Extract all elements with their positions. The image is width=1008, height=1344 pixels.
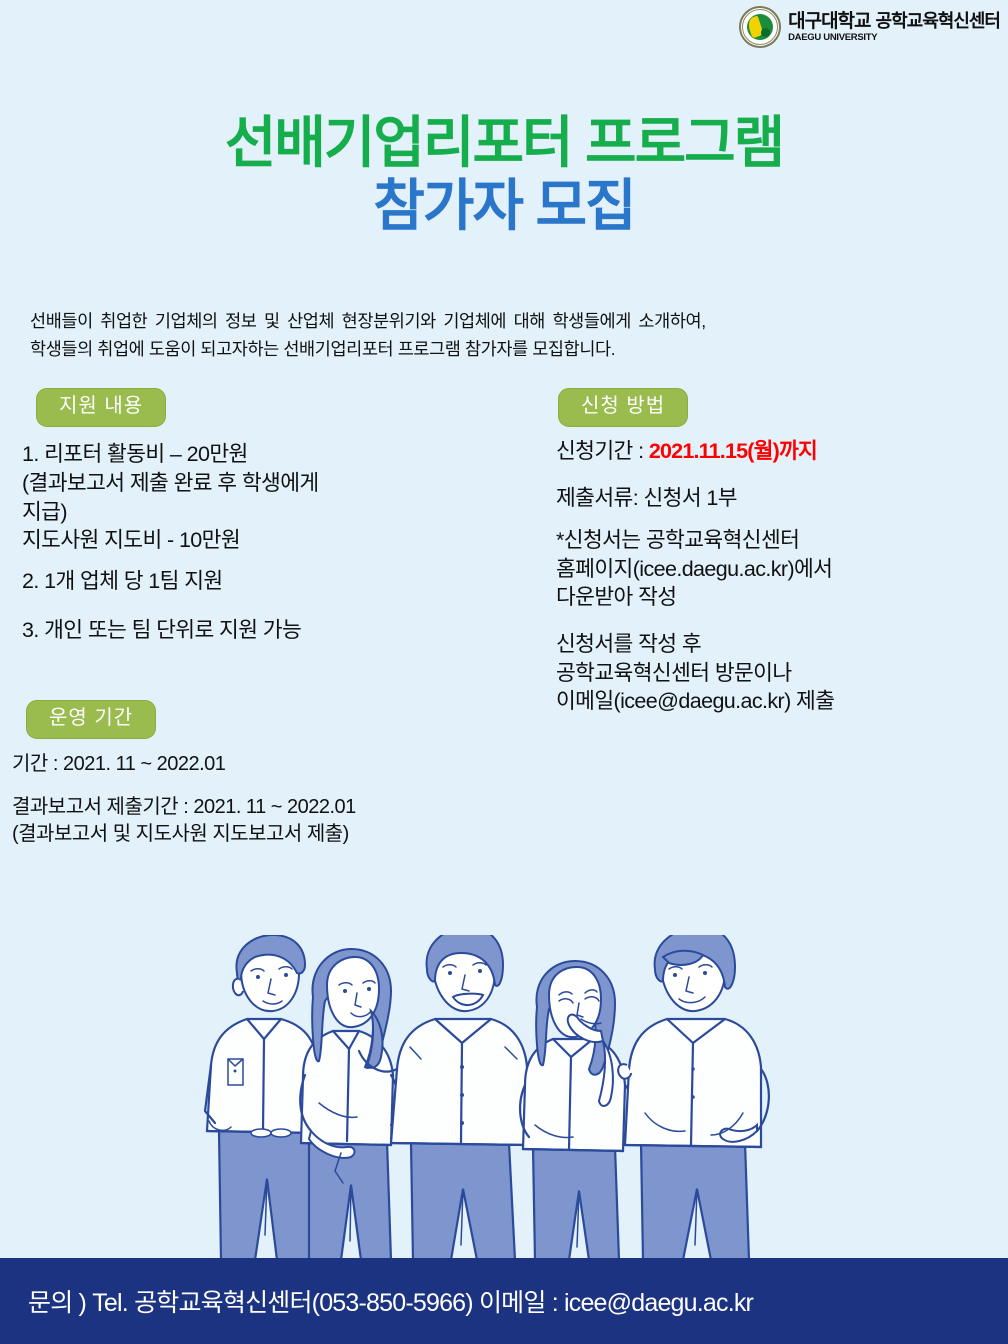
- apply-submit-line-1: 신청서를 작성 후: [556, 630, 997, 659]
- period-line-1: 기간 : 2021. 11 ~ 2022.01: [12, 751, 612, 778]
- five-students-group-illustration: .ink { fill: none; stroke: #2b4a9b; stro…: [185, 935, 805, 1260]
- support-line-4: 지도사원 지도비 - 10만원: [22, 526, 522, 555]
- support-line-1: 1. 리포터 활동비 – 20만원: [22, 440, 522, 469]
- title-line-2: 참가자 모집: [0, 175, 1008, 238]
- apply-deadline-label: 신청기간 :: [556, 439, 649, 463]
- university-logo: 대구대학교 공학교육혁신센터 DAEGU UNIVERSITY: [739, 4, 1000, 50]
- period-section: 운영 기간 기간 : 2021. 11 ~ 2022.01 결과보고서 제출기간…: [12, 700, 612, 848]
- apply-submit-line-3: 이메일(icee@daegu.ac.kr) 제출: [556, 687, 997, 716]
- logo-center-ko: 공학교육혁신센터: [876, 12, 1000, 30]
- support-line-2: (결과보고서 제출 완료 후 학생에게: [22, 469, 522, 498]
- support-list: 1. 리포터 활동비 – 20만원 (결과보고서 제출 완료 후 학생에게 지급…: [22, 440, 522, 645]
- apply-documents: 제출서류: 신청서 1부: [556, 484, 997, 513]
- period-badge-wrap: 운영 기간: [26, 700, 612, 739]
- apply-note-line-1: *신청서는 공학교육혁신센터: [556, 526, 997, 555]
- intro-line-2: 학생들의 취업에 도움이 되고자하는 선배기업리포터 프로그램 참가자를 모집합…: [30, 336, 985, 364]
- logo-wordmark: 대구대학교 공학교육혁신센터 DAEGU UNIVERSITY: [788, 12, 1000, 43]
- logo-university-ko: 대구대학교: [788, 12, 870, 31]
- apply-submit-line-2: 공학교육혁신센터 방문이나: [556, 659, 997, 688]
- seal-emblem-icon: [747, 14, 773, 40]
- period-line-3: (결과보고서 및 지도사원 지도보고서 제출): [12, 821, 612, 848]
- footer-contact-bar: 문의 ) Tel. 공학교육혁신센터(053-850-5966) 이메일 : i…: [0, 1258, 1008, 1344]
- apply-deadline-value: 2021.11.15(월)까지: [649, 439, 817, 463]
- apply-note-line-3: 다운받아 작성: [556, 583, 997, 612]
- period-body: 기간 : 2021. 11 ~ 2022.01 결과보고서 제출기간 : 202…: [12, 751, 612, 848]
- support-line-3: 지급): [22, 498, 522, 527]
- student-figure-5: [618, 935, 769, 1260]
- logo-university-en: DAEGU UNIVERSITY: [788, 33, 1000, 43]
- apply-badge: 신청 방법: [558, 388, 688, 427]
- page-title: 선배기업리포터 프로그램 참가자 모집: [0, 112, 1008, 237]
- period-line-2: 결과보고서 제출기간 : 2021. 11 ~ 2022.01: [12, 794, 612, 821]
- apply-note-line-2: 홈페이지(icee.daegu.ac.kr)에서: [556, 555, 997, 584]
- student-figure-4: [520, 961, 634, 1260]
- title-line-1: 선배기업리포터 프로그램: [0, 112, 1008, 175]
- support-line-5: 2. 1개 업체 당 1팀 지원: [22, 567, 522, 596]
- apply-section: 신청 방법 신청기간 : 2021.11.15(월)까지 제출서류: 신청서 1…: [552, 388, 997, 716]
- student-figure-2: [300, 949, 398, 1260]
- daegu-university-seal-icon: [739, 6, 781, 48]
- apply-body: 신청기간 : 2021.11.15(월)까지 제출서류: 신청서 1부 *신청서…: [552, 437, 997, 716]
- support-badge-wrap: 지원 내용: [36, 388, 522, 427]
- support-spacer-2: [22, 596, 522, 616]
- period-badge: 운영 기간: [26, 700, 156, 739]
- intro-line-1: 선배들이 취업한 기업체의 정보 및 산업체 현장분위기와 기업체에 대해 학생…: [30, 308, 985, 336]
- support-spacer-1: [22, 555, 522, 567]
- poster-root: 대구대학교 공학교육혁신센터 DAEGU UNIVERSITY 선배기업리포터 …: [0, 0, 1008, 1344]
- apply-deadline-row: 신청기간 : 2021.11.15(월)까지: [556, 437, 997, 466]
- support-line-6: 3. 개인 또는 팀 단위로 지원 가능: [22, 616, 522, 645]
- support-badge: 지원 내용: [36, 388, 166, 427]
- intro-paragraph: 선배들이 취업한 기업체의 정보 및 산업체 현장분위기와 기업체에 대해 학생…: [30, 308, 985, 363]
- support-section: 지원 내용 1. 리포터 활동비 – 20만원 (결과보고서 제출 완료 후 학…: [22, 388, 522, 645]
- footer-contact-text: 문의 ) Tel. 공학교육혁신센터(053-850-5966) 이메일 : i…: [0, 1283, 753, 1319]
- apply-badge-wrap: 신청 방법: [558, 388, 997, 427]
